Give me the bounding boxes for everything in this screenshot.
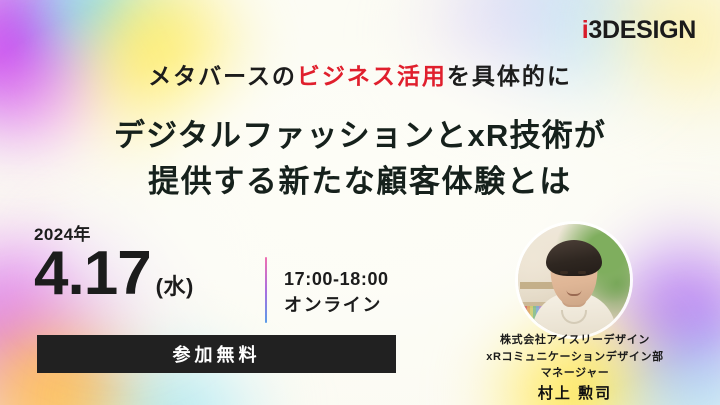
speaker-title: マネージャー — [440, 365, 710, 382]
logo-wordmark: 3DESIGN — [588, 16, 696, 44]
event-time-block: 17:00-18:00 オンライン — [284, 266, 389, 318]
speaker-credits: 株式会社アイスリーデザイン xRコミュニケーションデザイン部 マネージャー 村上… — [440, 332, 710, 405]
speaker-company: 株式会社アイスリーデザイン — [440, 332, 710, 349]
photo-eye-left — [560, 271, 568, 274]
speaker-avatar — [518, 224, 630, 336]
headline-line-1: デジタルファッションとxR技術が — [0, 113, 720, 159]
kicker-highlight: ビジネス活用 — [297, 63, 447, 89]
event-date-row: 4.17 (水) — [34, 245, 254, 304]
photo-eye-right — [578, 271, 586, 274]
page-title: デジタルファッションとxR技術が 提供する新たな顧客体験とは — [0, 113, 720, 205]
poster-content: i3DESIGN メタバースのビジネス活用を具体的に デジタルファッションとxR… — [0, 0, 720, 405]
event-date-block: 2024年 4.17 (水) — [34, 226, 254, 304]
speaker-department: xRコミュニケーションデザイン部 — [440, 349, 710, 366]
speaker-name: 村上 勲司 — [440, 383, 710, 405]
kicker-after: を具体的に — [447, 63, 572, 89]
event-time: 17:00-18:00 — [284, 266, 389, 292]
event-day-of-week: (水) — [156, 269, 194, 301]
vertical-divider — [265, 257, 267, 323]
headline-line-2: 提供する新たな顧客体験とは — [0, 159, 720, 205]
kicker-before: メタバースの — [148, 63, 297, 89]
webinar-poster: i3DESIGN メタバースのビジネス活用を具体的に デジタルファッションとxR… — [0, 0, 720, 405]
event-date: 4.17 — [34, 245, 151, 304]
company-logo: i3DESIGN — [582, 18, 696, 43]
free-admission-button[interactable]: 参加無料 — [37, 335, 396, 373]
event-format: オンライン — [284, 292, 389, 318]
kicker-text: メタバースのビジネス活用を具体的に — [0, 57, 720, 91]
